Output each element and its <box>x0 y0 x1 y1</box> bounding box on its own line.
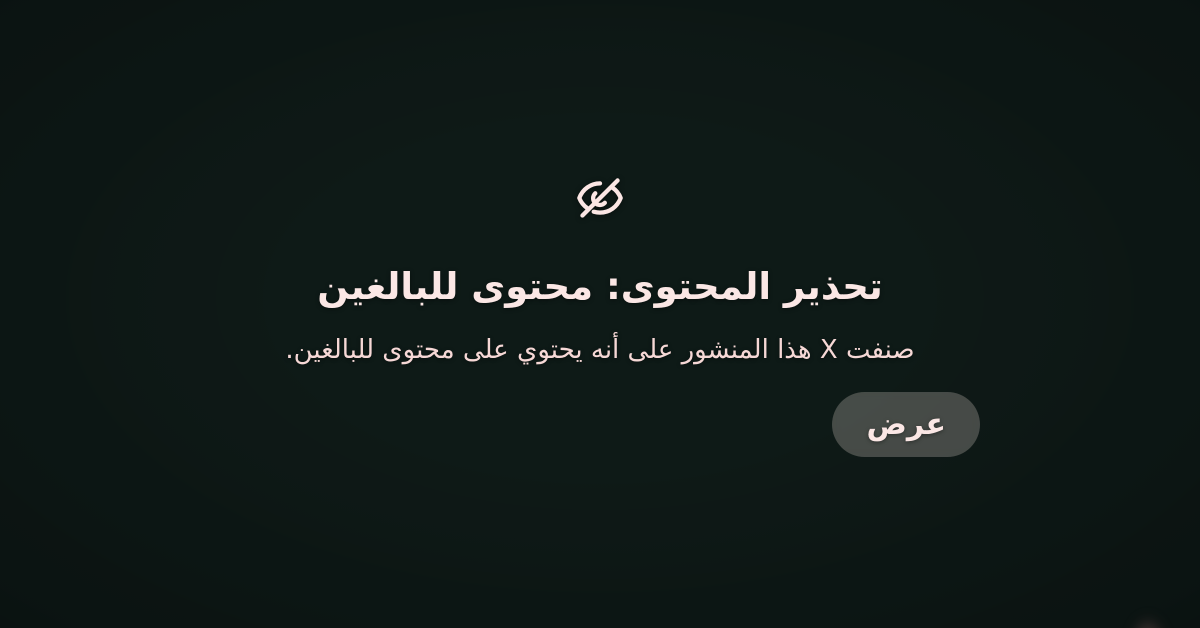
view-button[interactable]: عرض <box>832 392 980 457</box>
eye-off-icon <box>573 171 627 225</box>
warning-content-inner: تحذير المحتوى: محتوى للبالغين صنفت X هذا… <box>220 171 980 457</box>
warning-actions: عرض <box>220 392 980 457</box>
warning-description: صنفت X هذا المنشور على أنه يحتوي على محت… <box>220 332 980 370</box>
content-warning-screen: تحذير المحتوى: محتوى للبالغين صنفت X هذا… <box>0 0 1200 628</box>
page-title: تحذير المحتوى: محتوى للبالغين <box>317 263 883 310</box>
warning-content: تحذير المحتوى: محتوى للبالغين صنفت X هذا… <box>0 0 1200 628</box>
